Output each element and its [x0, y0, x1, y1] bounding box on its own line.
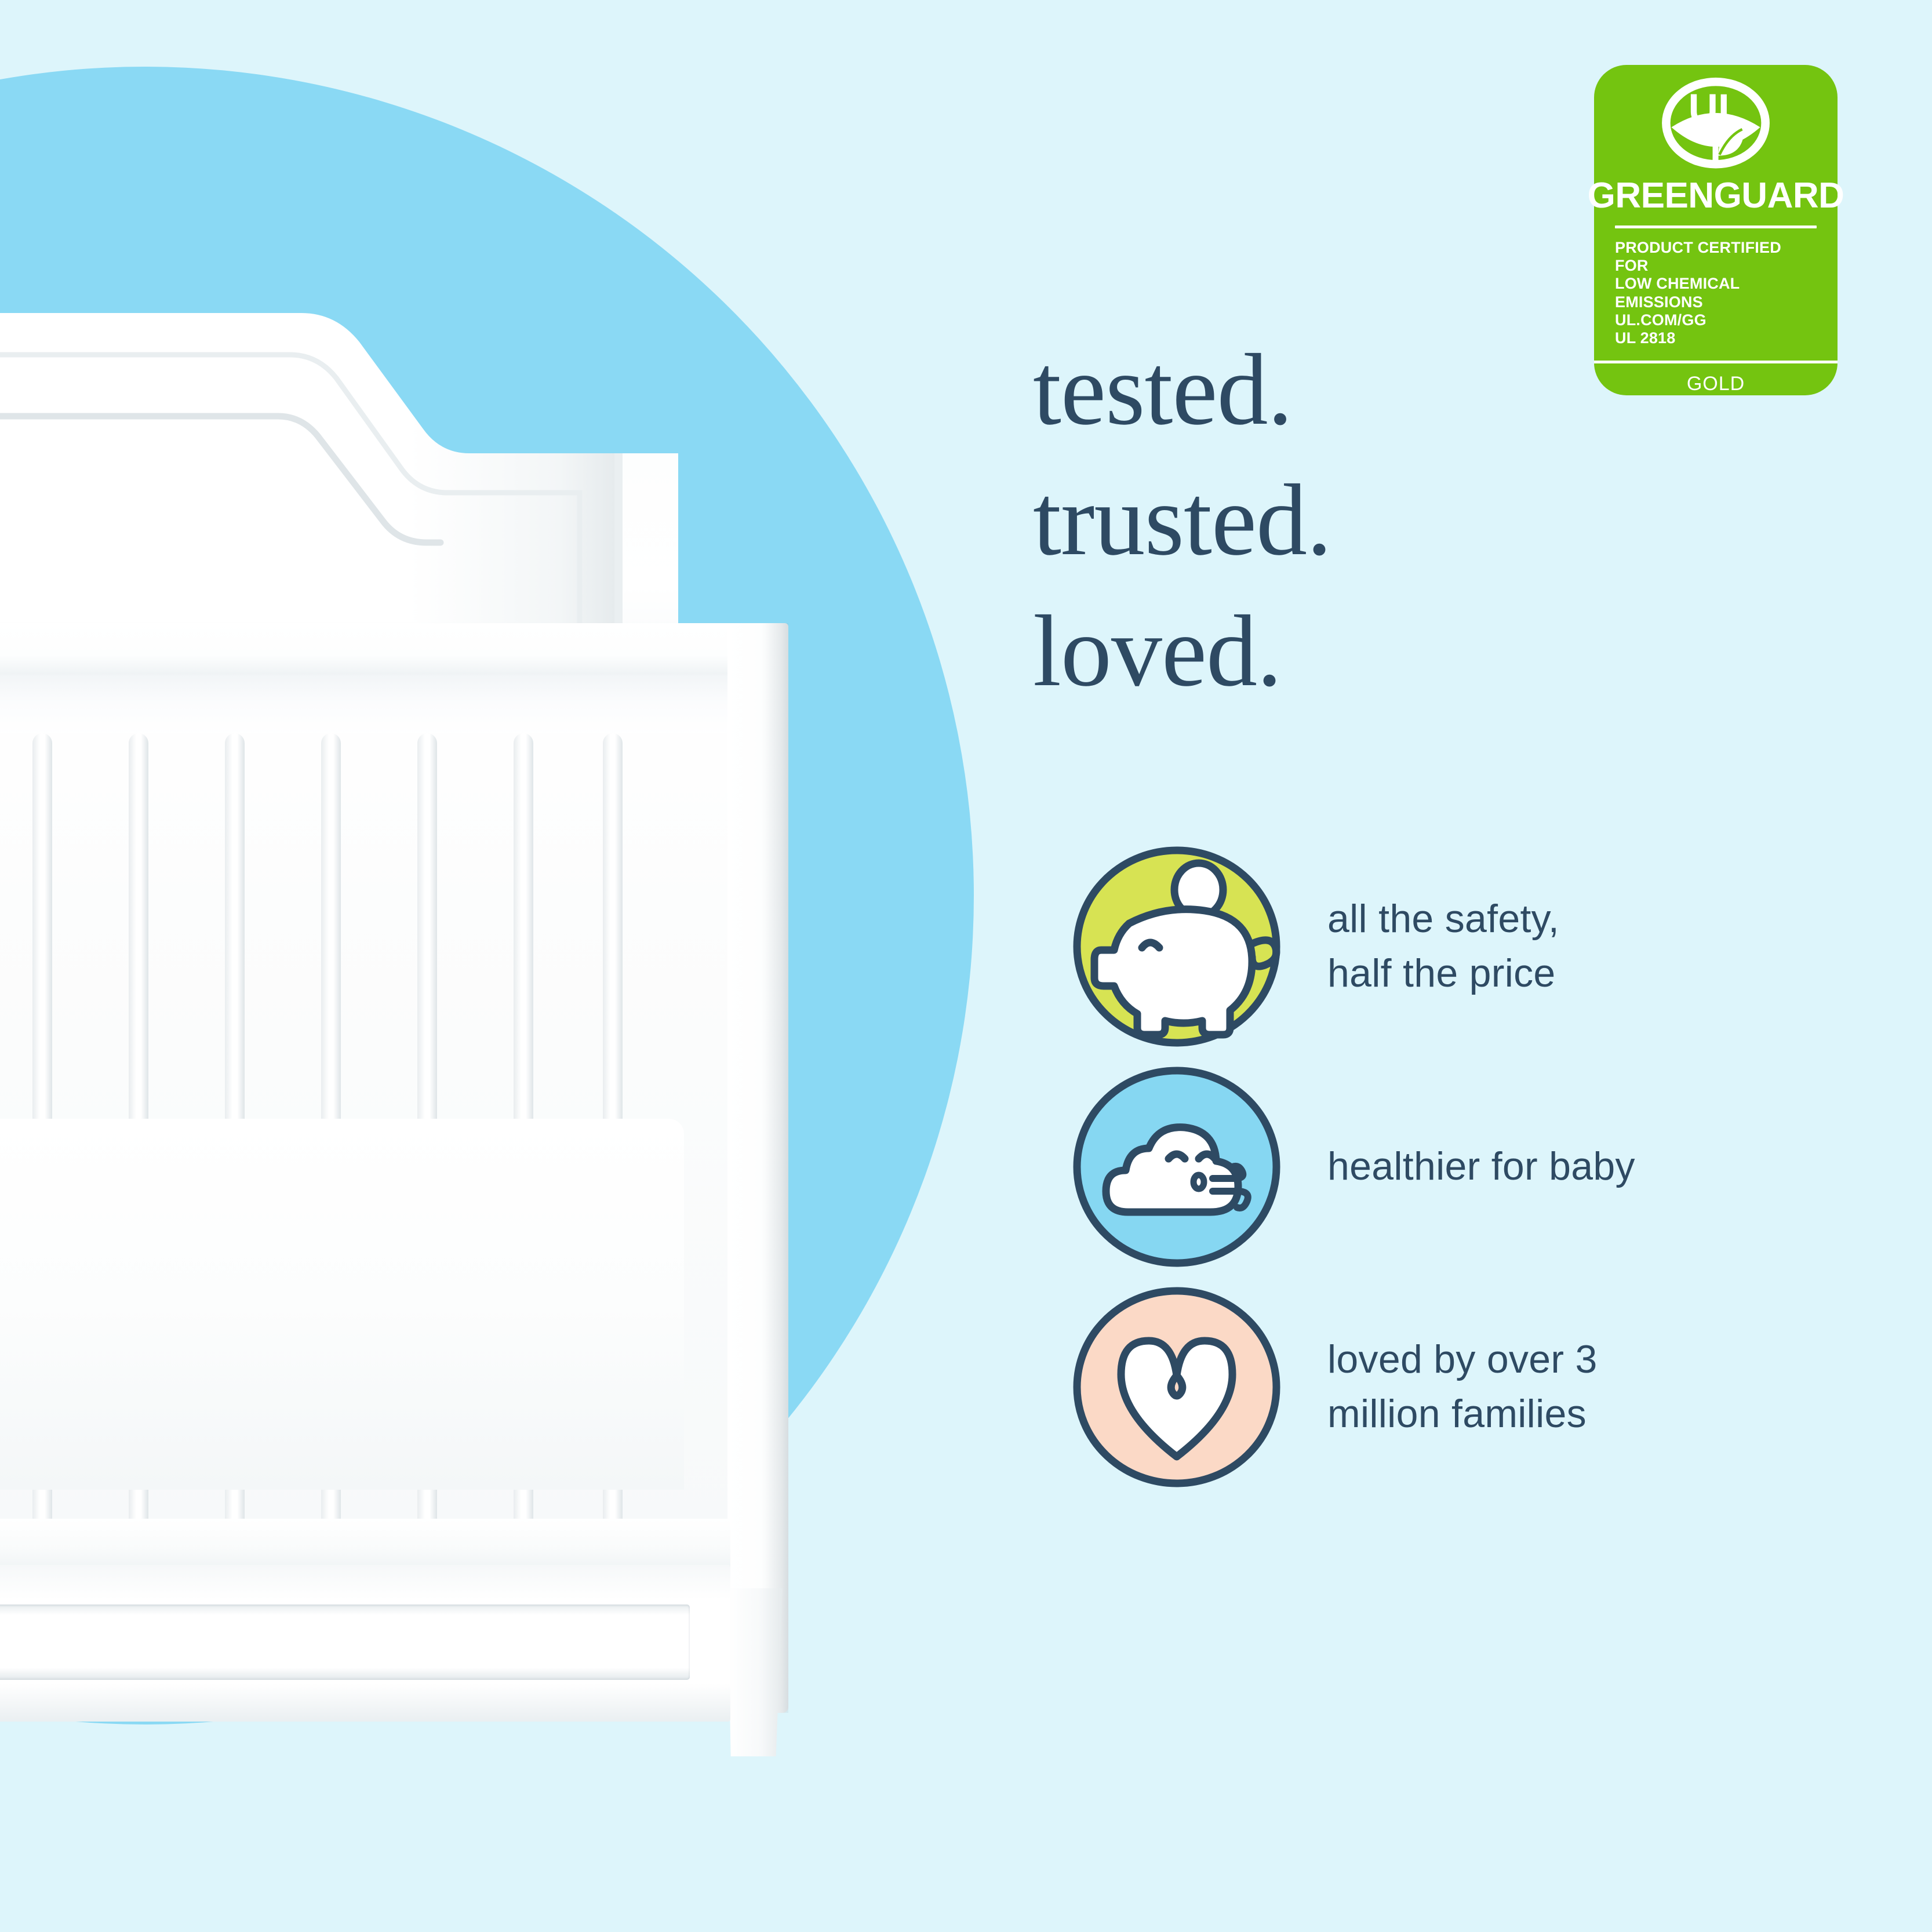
piggy-bank-icon — [1061, 836, 1293, 1057]
badge-divider — [1615, 225, 1817, 228]
crib-rail-underside — [0, 675, 730, 736]
crib-mattress — [0, 1119, 684, 1490]
feature-item-loved: loved by over 3 million families — [1061, 1277, 1872, 1497]
feature-item-health: healthier for baby — [1061, 1057, 1872, 1277]
crib-top-rail — [0, 623, 742, 676]
badge-level: GOLD — [1687, 373, 1745, 395]
feature-label-loved: loved by over 3 million families — [1327, 1333, 1598, 1442]
feature-label-health: healthier for baby — [1327, 1140, 1635, 1194]
feature-item-savings: all the safety, half the price — [1061, 836, 1872, 1057]
headline-line-1: tested. — [1033, 325, 1331, 455]
badge-title: GREENGUARD — [1588, 178, 1844, 214]
feature-label-savings: all the safety, half the price — [1327, 892, 1559, 1001]
crib-leg — [727, 1588, 783, 1756]
promo-image: UL GREENGUARD PRODUCT CERTIFIED FOR LOW … — [0, 0, 1932, 1932]
badge-certification-text: PRODUCT CERTIFIED FOR LOW CHEMICAL EMISS… — [1615, 239, 1817, 348]
cloud-blowing-icon — [1061, 1057, 1293, 1277]
heart-icon — [1061, 1277, 1293, 1497]
headline-line-3: loved. — [1033, 586, 1331, 716]
crib-product-image — [0, 0, 846, 1774]
headline: tested. trusted. loved. — [1033, 325, 1331, 716]
greenguard-badge: UL GREENGUARD PRODUCT CERTIFIED FOR LOW … — [1594, 65, 1838, 395]
feature-list: all the safety, half the price healthier… — [1061, 836, 1872, 1497]
crib-skirt-inset — [0, 1604, 690, 1680]
ul-leaf-icon: UL — [1654, 77, 1777, 177]
headline-line-2: trusted. — [1033, 455, 1331, 585]
badge-divider-lower — [1594, 361, 1838, 363]
crib-skirt-panel — [0, 1565, 730, 1722]
crib-corner-post — [727, 623, 788, 1713]
